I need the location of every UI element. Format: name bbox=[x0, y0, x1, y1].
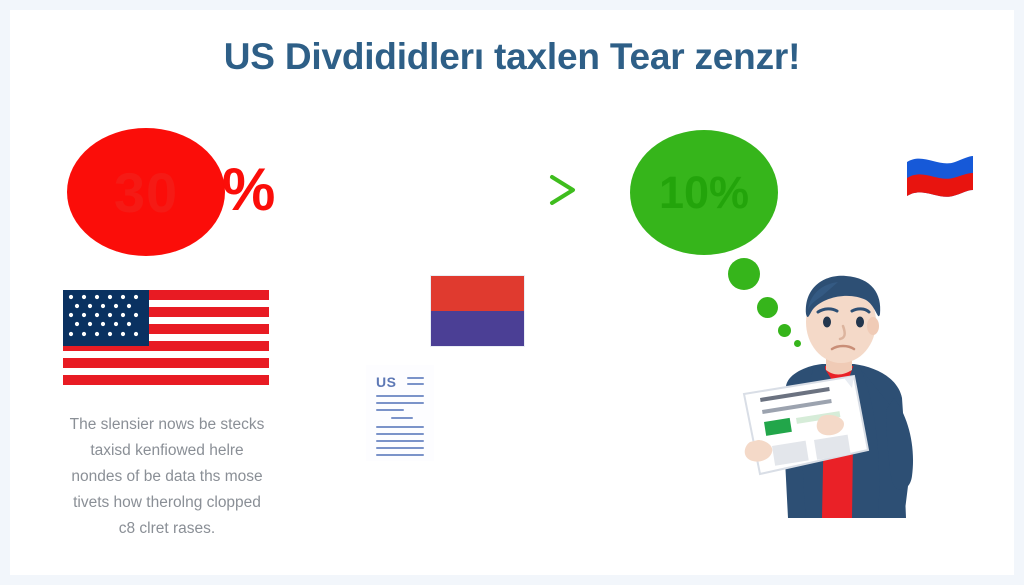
caption-line-3: nondes of be data ths mose bbox=[38, 464, 296, 490]
caption-line-1: The slensier nows be stecks bbox=[38, 412, 296, 438]
infographic-canvas: US Divdididlerı taxlen Tear zenzr! 30 % … bbox=[0, 0, 1024, 585]
center-flag-bottom-band bbox=[431, 311, 524, 346]
caption-line-5: c8 clret rases. bbox=[38, 516, 296, 542]
before-rate-value: 30 bbox=[67, 128, 225, 256]
document-icon: US bbox=[366, 365, 434, 461]
us-flag-stars bbox=[63, 290, 149, 346]
after-rate-value: 10% bbox=[630, 130, 778, 255]
caption-line-4: tivets how therolng clopped bbox=[38, 490, 296, 516]
before-rate-circle: 30 bbox=[67, 128, 225, 256]
before-rate-percent-symbol: % bbox=[222, 160, 275, 220]
person-illustration-icon bbox=[726, 270, 934, 520]
document-icon-label: US bbox=[376, 374, 396, 390]
center-flag-icon bbox=[431, 276, 524, 346]
after-rate-circle: 10% bbox=[630, 130, 778, 255]
transition-arrow bbox=[314, 174, 582, 206]
waving-flag-icon bbox=[903, 150, 977, 216]
person-reading-document bbox=[726, 270, 934, 520]
caption-line-2: taxisd kenfiowed helre bbox=[38, 438, 296, 464]
page-title: US Divdididlerı taxlen Tear zenzr! bbox=[0, 36, 1024, 78]
us-flag-icon bbox=[63, 290, 269, 386]
caption-text: The slensier nows be stecks taxisd kenfi… bbox=[38, 412, 296, 542]
waving-flag-shape bbox=[903, 150, 977, 216]
transition-arrow-icon bbox=[314, 174, 582, 206]
center-flag-top-band bbox=[431, 276, 524, 311]
